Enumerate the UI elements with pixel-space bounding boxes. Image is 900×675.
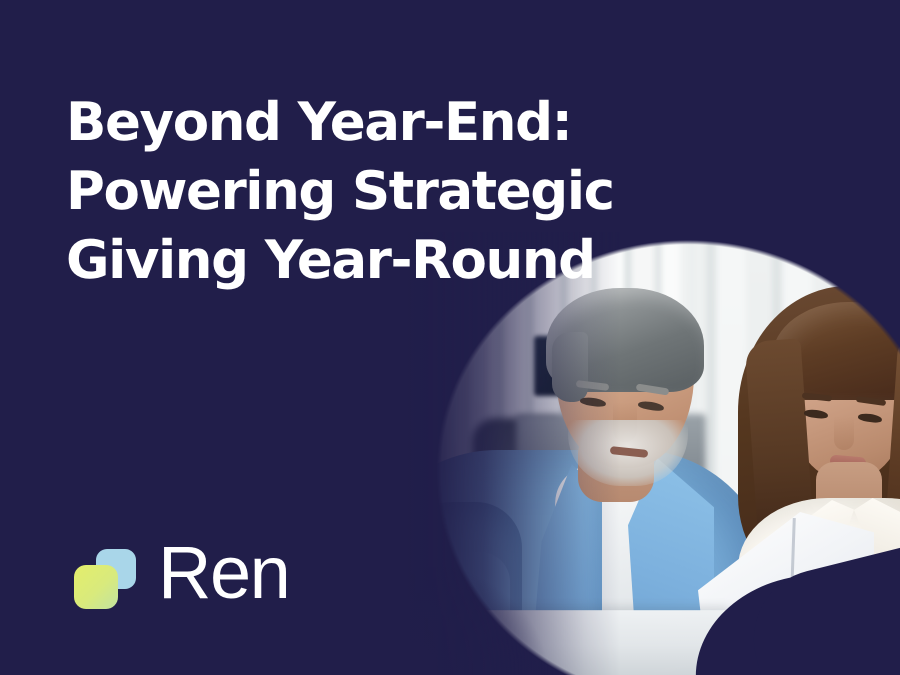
laptop (435, 610, 736, 675)
woman-nose (834, 416, 854, 450)
logo-green-square (74, 565, 118, 609)
promotional-banner: Beyond Year-End: Powering Strategic Givi… (0, 0, 900, 675)
headline-line-3: Giving Year-Round (66, 226, 614, 295)
logo-wordmark: Ren (158, 536, 289, 610)
page-title: Beyond Year-End: Powering Strategic Givi… (66, 88, 614, 295)
man-hair (546, 288, 704, 392)
office-plant (838, 240, 884, 280)
headline-line-1: Beyond Year-End: (66, 88, 614, 157)
headline-line-2: Powering Strategic (66, 157, 614, 226)
brand-logo[interactable]: Ren (68, 539, 289, 615)
ren-logo-mark-icon (68, 539, 144, 615)
